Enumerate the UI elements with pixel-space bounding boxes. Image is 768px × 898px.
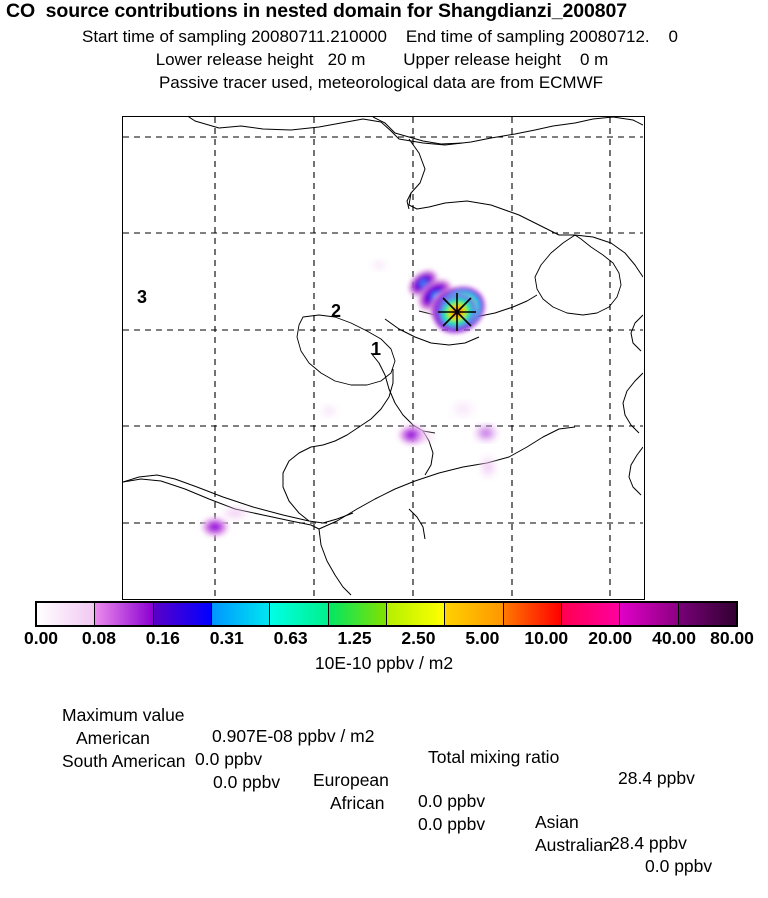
colorbar-tick-5: 1.25 [338, 628, 372, 649]
stat-row-continents-2: South American 0.0 ppbv African 0.0 ppbv… [0, 730, 768, 753]
colorbar-segment-7 [445, 603, 503, 625]
colorbar-segment-8 [504, 603, 562, 625]
colorbar-segment-2 [154, 603, 212, 625]
colorbar-segment-1 [95, 603, 153, 625]
african-label: African [330, 793, 384, 814]
colorbar-segment-4 [270, 603, 328, 625]
colorbar [35, 601, 738, 627]
colorbar-segment-3 [212, 603, 270, 625]
total-mixing-ratio-value: 28.4 ppbv [618, 768, 695, 789]
colorbar-tick-2: 0.16 [146, 628, 180, 649]
colorbar-tick-4: 0.63 [274, 628, 308, 649]
colorbar-unit-label: 10E-10 ppbv / m2 [0, 653, 768, 674]
asian-value: 28.4 ppbv [610, 833, 687, 854]
region-label-1: 1 [371, 339, 381, 360]
colorbar-segment-10 [620, 603, 678, 625]
european-label: European [313, 770, 389, 791]
colorbar-tick-6: 2.50 [401, 628, 435, 649]
map-canvas [123, 117, 643, 598]
statistics-block: Maximum value 0.907E-08 ppbv / m2 Total … [0, 684, 768, 753]
colorbar-tick-labels: 0.000.080.160.310.631.252.505.0010.0020.… [0, 628, 768, 648]
australian-value: 0.0 ppbv [645, 856, 712, 877]
colorbar-tick-11: 80.00 [710, 628, 754, 649]
map-plot-panel: 3 2 1 [122, 116, 645, 600]
african-value: 0.0 ppbv [418, 814, 485, 835]
colorbar-segment-6 [387, 603, 445, 625]
region-label-2: 2 [331, 301, 341, 322]
release-point-marker [438, 293, 476, 331]
south-american-label: South American [62, 751, 186, 772]
colorbar-segment-9 [562, 603, 620, 625]
australian-label: Australian [535, 835, 613, 856]
south-american-value: 0.0 ppbv [213, 772, 280, 793]
colorbar-tick-8: 10.00 [524, 628, 568, 649]
region-label-3: 3 [137, 287, 147, 308]
header-block: CO source contributions in nested domain… [0, 0, 768, 91]
release-height-line: Lower release height 20 m Upper release … [0, 51, 768, 68]
colorbar-tick-1: 0.08 [82, 628, 116, 649]
page-title: CO source contributions in nested domain… [0, 2, 768, 22]
colorbar-segment-5 [329, 603, 387, 625]
colorbar-segment-11 [679, 603, 736, 625]
stat-row-continents-1: American 0.0 ppbv European 0.0 ppbv Asia… [0, 707, 768, 730]
colorbar-tick-7: 5.00 [465, 628, 499, 649]
tracer-meteorology-line: Passive tracer used, meteorological data… [0, 74, 768, 91]
colorbar-tick-3: 0.31 [210, 628, 244, 649]
sampling-time-line: Start time of sampling 20080711.210000 E… [0, 28, 768, 45]
plume-layer [200, 259, 498, 538]
colorbar-tick-10: 40.00 [652, 628, 696, 649]
stat-row-maximum: Maximum value 0.907E-08 ppbv / m2 Total … [0, 684, 768, 707]
colorbar-tick-0: 0.00 [24, 628, 58, 649]
colorbar-segment-0 [37, 603, 95, 625]
colorbar-tick-9: 20.00 [588, 628, 632, 649]
european-value: 0.0 ppbv [418, 791, 485, 812]
asian-label: Asian [535, 812, 579, 833]
